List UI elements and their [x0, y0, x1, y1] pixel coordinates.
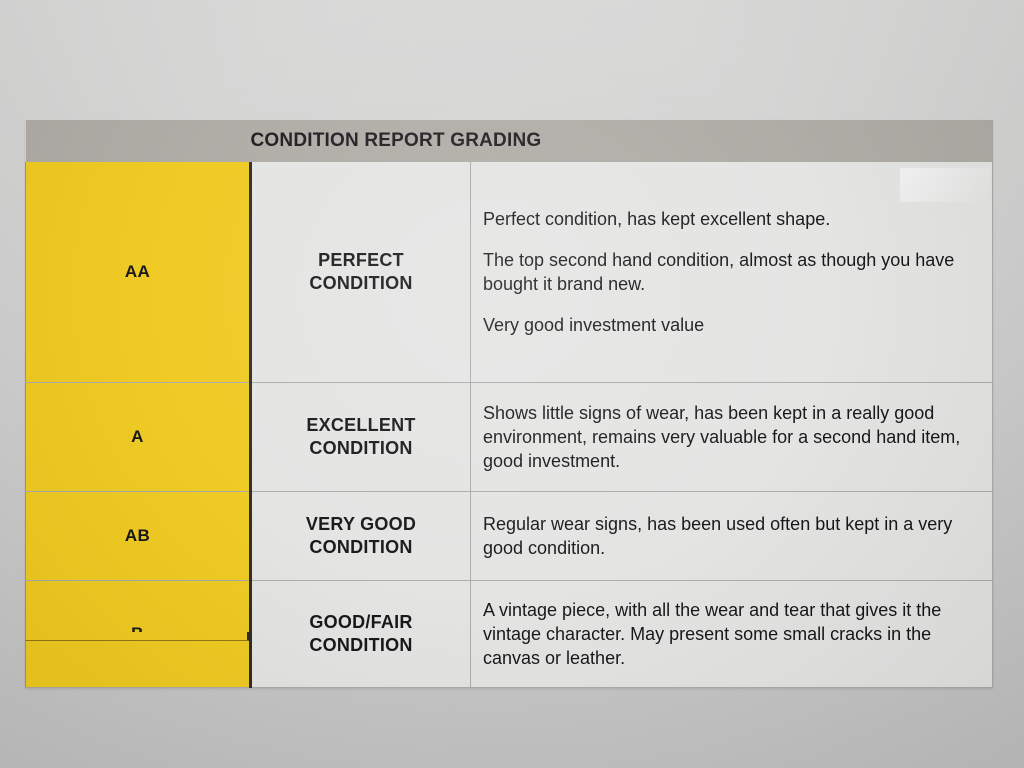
description-paragraph: Very good investment value [483, 313, 978, 337]
description-paragraph: Shows little signs of wear, has been kep… [483, 401, 978, 473]
condition-label-line-1: PERFECT [318, 250, 404, 270]
condition-label-a: EXCELLENT CONDITION [251, 383, 471, 492]
condition-label-line-1: GOOD/FAIR [309, 612, 412, 632]
photographed-document-sheet: CONDITION REPORT GRADING AA PERFECT COND… [0, 0, 1024, 768]
description-ab: Regular wear signs, has been used often … [471, 492, 993, 581]
description-paragraph: A vintage piece, with all the wear and t… [483, 598, 978, 670]
table-title: CONDITION REPORT GRADING [251, 120, 993, 162]
condition-label-line-2: CONDITION [309, 438, 412, 458]
table-row: A EXCELLENT CONDITION Shows little signs… [26, 383, 993, 492]
grade-code-aa: AA [26, 162, 251, 383]
grade-code-a: A [26, 383, 251, 492]
table-body: AA PERFECT CONDITION Perfect condition, … [26, 162, 993, 688]
description-b: A vintage piece, with all the wear and t… [471, 581, 993, 688]
table-row: AA PERFECT CONDITION Perfect condition, … [26, 162, 993, 383]
condition-label-b: GOOD/FAIR CONDITION [251, 581, 471, 688]
condition-label-line-2: CONDITION [309, 635, 412, 655]
description-paragraph: Perfect condition, has kept excellent sh… [483, 207, 978, 231]
description-a: Shows little signs of wear, has been kep… [471, 383, 993, 492]
table-header: CONDITION REPORT GRADING [26, 120, 993, 162]
condition-label-line-1: EXCELLENT [306, 415, 415, 435]
description-paragraph: The top second hand condition, almost as… [483, 248, 978, 296]
condition-label-ab: VERY GOOD CONDITION [251, 492, 471, 581]
condition-label-line-1: VERY GOOD [306, 514, 416, 534]
description-aa: Perfect condition, has kept excellent sh… [471, 162, 993, 383]
grade-code-ab: AB [26, 492, 251, 581]
condition-label-aa: PERFECT CONDITION [251, 162, 471, 383]
condition-label-line-2: CONDITION [309, 273, 412, 293]
table-header-row: CONDITION REPORT GRADING [26, 120, 993, 162]
table-header-blank-cell [26, 120, 251, 162]
table-row: AB VERY GOOD CONDITION Regular wear sign… [26, 492, 993, 581]
condition-report-grading-table: CONDITION REPORT GRADING AA PERFECT COND… [25, 120, 993, 688]
grade-column-overhang [25, 632, 250, 641]
description-paragraph: Regular wear signs, has been used often … [483, 512, 978, 560]
condition-label-line-2: CONDITION [309, 537, 412, 557]
